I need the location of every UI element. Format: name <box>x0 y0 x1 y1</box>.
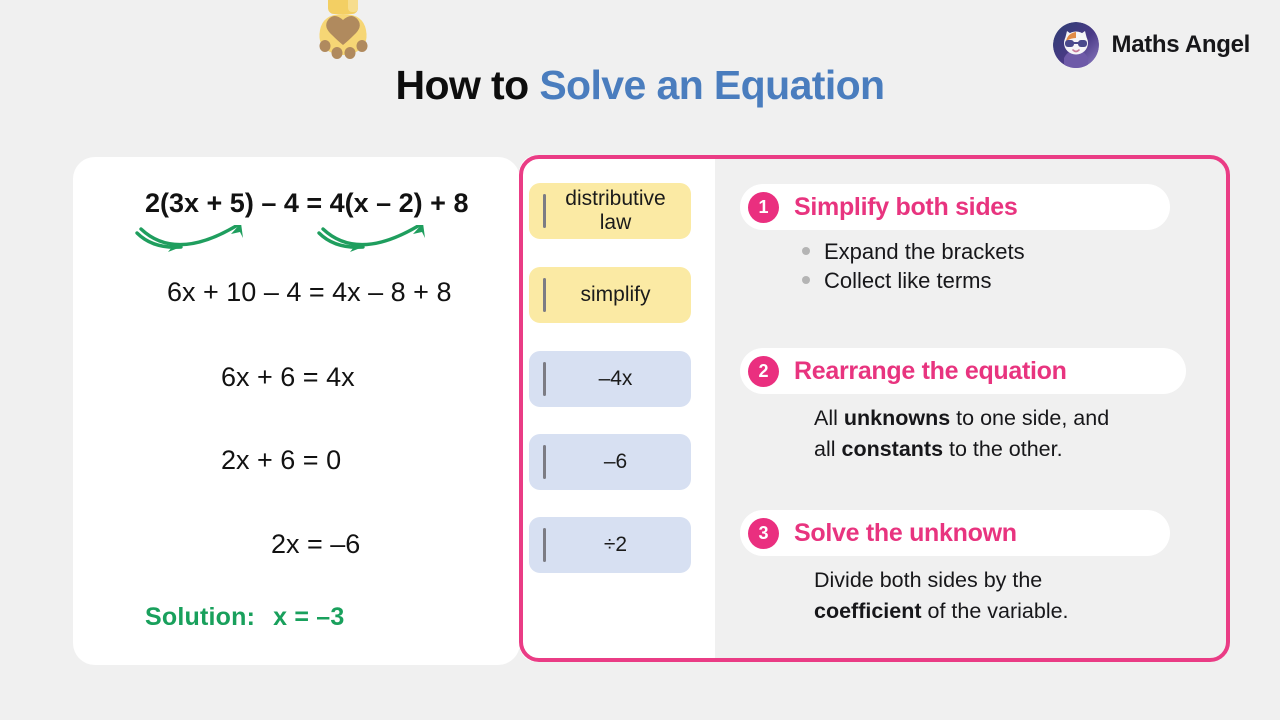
bullet-dot-icon <box>802 247 810 255</box>
step-body-2: All unknowns to one side, andall constan… <box>740 394 1210 464</box>
steps-panel: 1Simplify both sidesExpand the bracketsC… <box>740 170 1210 648</box>
cat-paw-icon <box>312 0 374 64</box>
worked-example-card: 2(3x + 5) – 4 = 4(x – 2) + 86x + 10 – 4 … <box>73 157 520 665</box>
bullet-dot-icon <box>802 276 810 284</box>
bullet-label: Expand the brackets <box>824 239 1025 265</box>
bullet-label: Collect like terms <box>824 268 991 294</box>
solution-label: Solution: <box>145 603 255 631</box>
step-card-2: 2Rearrange the equationAll unknowns to o… <box>740 348 1210 464</box>
page-title-accent: Solve an Equation <box>539 62 884 108</box>
step-body-1: Expand the bracketsCollect like terms <box>740 230 1210 294</box>
step-header-1[interactable]: 1Simplify both sides <box>740 184 1170 230</box>
step-header-3[interactable]: 3Solve the unknown <box>740 510 1170 556</box>
equation-line-2: 6x + 10 – 4 = 4x – 8 + 8 <box>167 277 451 308</box>
step-body-3: Divide both sides by thecoefficient of t… <box>740 556 1210 626</box>
step-number-badge: 2 <box>748 356 779 387</box>
page-title-prefix: How to <box>395 62 539 108</box>
solution-line: Solution:x = –3 <box>145 603 345 632</box>
step-description: All unknowns to one side, andall constan… <box>802 403 1210 464</box>
step-bullet-1: Expand the brackets <box>802 239 1210 265</box>
step-number-badge: 3 <box>748 518 779 549</box>
step-description: Divide both sides by thecoefficient of t… <box>802 565 1210 626</box>
step-card-1: 1Simplify both sidesExpand the bracketsC… <box>740 184 1210 297</box>
equation-line-1: 2(3x + 5) – 4 = 4(x – 2) + 8 <box>145 188 468 219</box>
step-number-badge: 1 <box>748 192 779 223</box>
step-title: Simplify both sides <box>794 193 1018 222</box>
infographic-page: Maths Angel How to Solve an Equation <box>0 0 1280 720</box>
equation-line-3: 6x + 6 = 4x <box>221 362 355 393</box>
step-header-2[interactable]: 2Rearrange the equation <box>740 348 1186 394</box>
brand-name: Maths Angel <box>1112 31 1251 59</box>
equation-line-5: 2x = –6 <box>271 529 360 560</box>
solution-value: x = –3 <box>273 603 344 631</box>
equation-line-4: 2x + 6 = 0 <box>221 445 341 476</box>
page-title: How to Solve an Equation <box>0 62 1280 109</box>
step-title: Solve the unknown <box>794 519 1017 548</box>
step-bullet-2: Collect like terms <box>802 268 1210 294</box>
step-card-3: 3Solve the unknownDivide both sides by t… <box>740 510 1210 626</box>
distributive-arrows-icon <box>133 225 473 265</box>
equation-steps-list: 2(3x + 5) – 4 = 4(x – 2) + 86x + 10 – 4 … <box>73 157 520 665</box>
step-title: Rearrange the equation <box>794 357 1067 386</box>
